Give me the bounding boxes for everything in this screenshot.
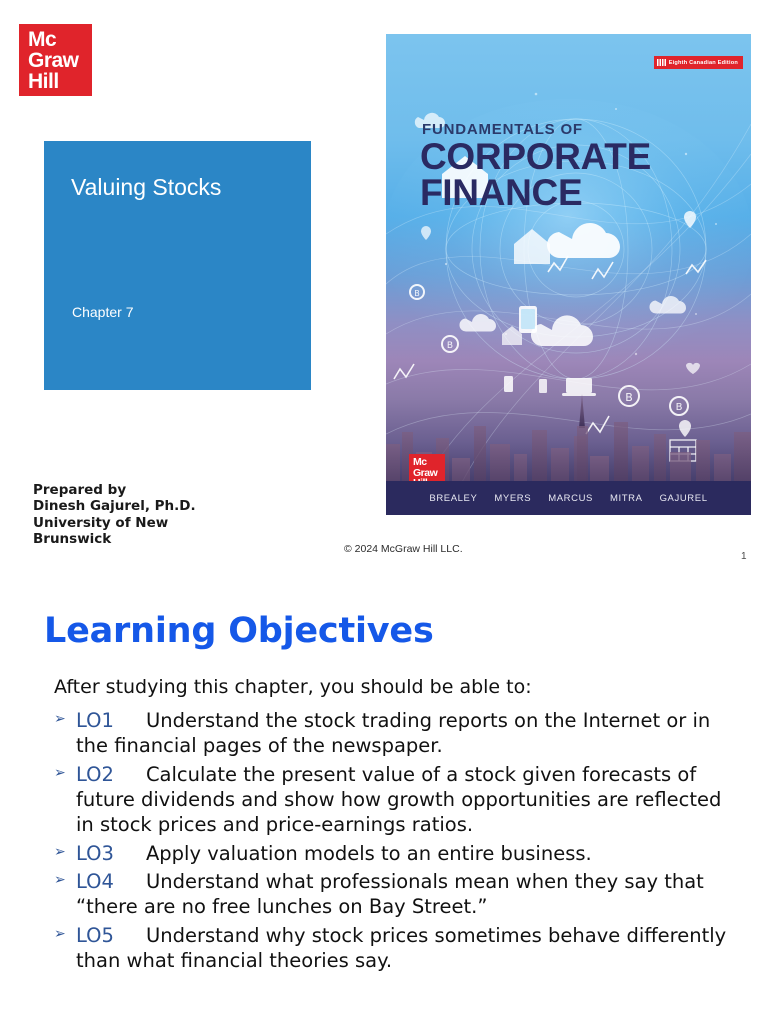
logo-line-graw: Graw <box>28 50 79 71</box>
mcgraw-hill-logo: Mc Graw Hill <box>19 24 92 96</box>
svg-text:B: B <box>447 341 453 351</box>
book-cover-image: B B B B <box>386 34 751 515</box>
network-graphic: B B B B <box>386 34 751 515</box>
title-slide: Mc Graw Hill Valuing Stocks Chapter 7 Pr… <box>0 0 768 576</box>
objective-code: LO5 <box>76 924 114 947</box>
prepared-by-line-1: Prepared by <box>33 482 263 498</box>
objective-text: Understand why stock prices sometimes be… <box>76 924 726 972</box>
objective-code: LO2 <box>76 763 114 786</box>
cover-authors-band: BREALEY MYERS MARCUS MITRA GAJUREL <box>386 481 751 515</box>
objective-text: Calculate the present value of a stock g… <box>76 763 721 837</box>
author-5: GAJUREL <box>660 493 708 504</box>
objective-code: LO4 <box>76 870 114 893</box>
objective-code: LO3 <box>76 842 114 865</box>
svg-text:B: B <box>676 402 683 413</box>
arrow-bullet-icon: ➢ <box>54 925 66 943</box>
objective-code: LO1 <box>76 709 114 732</box>
page-title: Valuing Stocks <box>71 174 221 201</box>
author-1: BREALEY <box>429 493 477 504</box>
author-2: MYERS <box>494 493 531 504</box>
arrow-bullet-icon: ➢ <box>54 843 66 861</box>
author-4: MITRA <box>610 493 643 504</box>
objective-text: Understand what professionals mean when … <box>76 870 704 918</box>
objective-text: Apply valuation models to an entire busi… <box>146 842 592 865</box>
chapter-label: Chapter 7 <box>72 304 133 320</box>
arrow-bullet-icon: ➢ <box>54 764 66 782</box>
prepared-by-line-4: Brunswick <box>33 531 263 547</box>
arrow-bullet-icon: ➢ <box>54 871 66 889</box>
prepared-by-block: Prepared by Dinesh Gajurel, Ph.D. Univer… <box>33 482 263 548</box>
arrow-bullet-icon: ➢ <box>54 710 66 728</box>
svg-text:B: B <box>414 289 420 298</box>
chapter-title-card: Valuing Stocks Chapter 7 <box>44 141 311 390</box>
objective-text: Understand the stock trading reports on … <box>76 709 710 757</box>
copyright-notice: © 2024 McGraw Hill LLC. <box>344 543 463 555</box>
cover-title: CORPORATE FINANCE <box>420 139 651 210</box>
list-item: ➢ LO1Understand the stock trading report… <box>54 708 744 759</box>
prepared-by-line-2: Dinesh Gajurel, Ph.D. <box>33 498 263 514</box>
cover-title-line-2: FINANCE <box>420 175 651 211</box>
list-item: ➢ LO5Understand why stock prices sometim… <box>54 923 744 974</box>
list-item: ➢ LO2Calculate the present value of a st… <box>54 762 744 838</box>
edition-badge: Eighth Canadian Edition <box>654 56 743 69</box>
logo-line-hill: Hill <box>28 71 59 92</box>
learning-objectives-slide: Learning Objectives After studying this … <box>0 576 768 1024</box>
list-item: ➢ LO4Understand what professionals mean … <box>54 869 744 920</box>
list-item: ➢ LO3Apply valuation models to an entire… <box>54 841 744 866</box>
slide-number: 1 <box>741 551 747 562</box>
slide-intro-text: After studying this chapter, you should … <box>54 676 532 698</box>
mcgraw-hill-mark-icon <box>657 59 666 66</box>
cover-title-line-1: CORPORATE <box>420 139 651 175</box>
objectives-list: ➢ LO1Understand the stock trading report… <box>54 708 744 976</box>
prepared-by-line-3: University of New <box>33 515 263 531</box>
edition-badge-label: Eighth Canadian Edition <box>669 60 738 66</box>
svg-text:B: B <box>625 391 633 404</box>
slide-heading: Learning Objectives <box>44 611 434 651</box>
logo-line-mc: Mc <box>28 29 56 50</box>
author-3: MARCUS <box>548 493 593 504</box>
